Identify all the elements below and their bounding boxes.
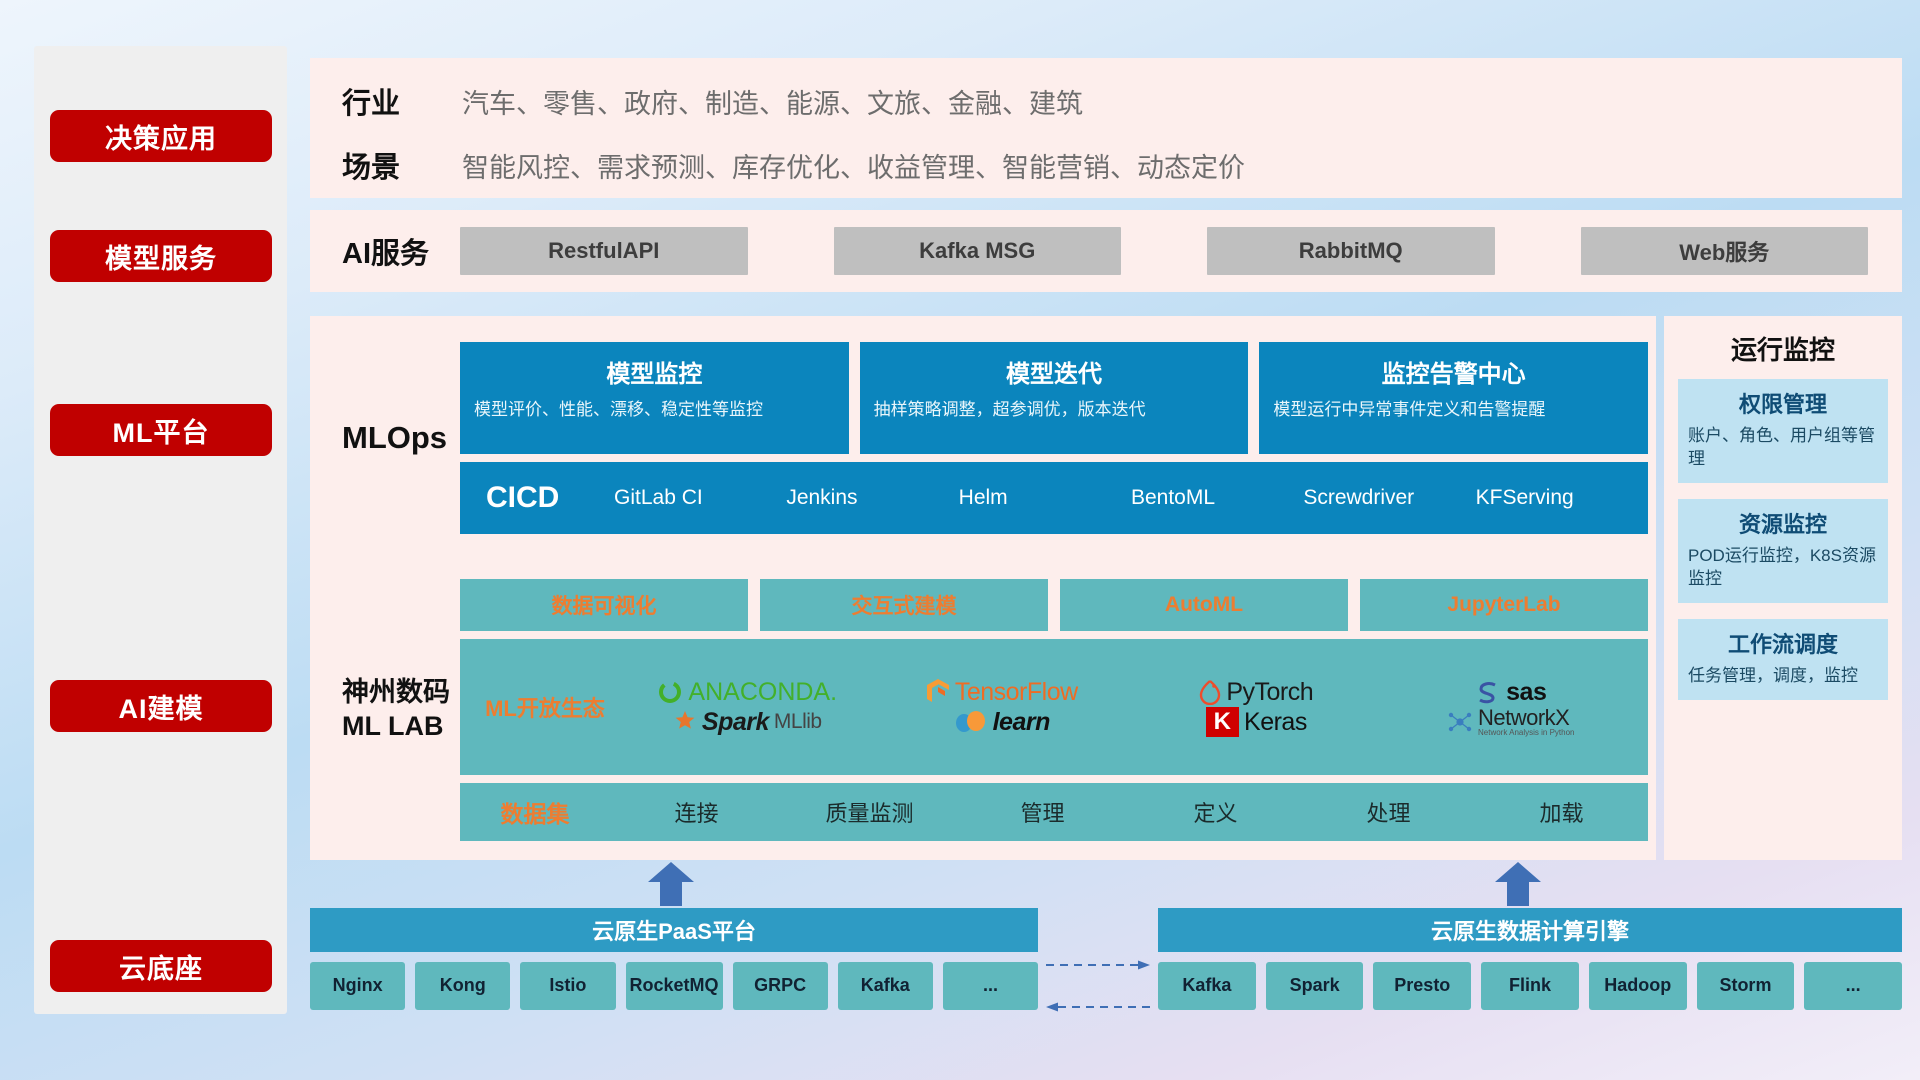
mlops-card-list: 模型监控 模型评价、性能、漂移、稳定性等监控 模型迭代 抽样策略调整，超参调优，… [460, 342, 1648, 454]
connector-arrow-left [1046, 1000, 1150, 1002]
monitor-card-permission[interactable]: 权限管理 账户、角色、用户组等管理 [1678, 379, 1888, 483]
pytorch-logo: PyTorch [1199, 678, 1313, 707]
paas-chip-nginx[interactable]: Nginx [310, 962, 405, 1010]
ai-service-item-web-service[interactable]: Web服务 [1581, 227, 1869, 275]
anaconda-logo: ANACONDA. [657, 678, 837, 707]
card-title: 监控告警中心 [1273, 354, 1634, 389]
dataset-item-load[interactable]: 加载 [1475, 796, 1648, 828]
chip-label: RabbitMQ [1299, 238, 1403, 264]
card-title: 工作流调度 [1688, 627, 1878, 659]
mlops-label: MLOps [342, 420, 460, 456]
paas-chip-rocketmq[interactable]: RocketMQ [626, 962, 723, 1010]
card-title: 模型迭代 [874, 354, 1235, 389]
card-title: 资源监控 [1688, 507, 1878, 539]
ai-service-band: AI服务 RestfulAPI Kafka MSG RabbitMQ Web服务 [310, 210, 1902, 292]
sidebar-item-label: ML平台 [113, 411, 210, 450]
architecture-diagram: 决策应用 模型服务 ML平台 AI建模 云底座 行业 汽车、零售、政府、制造、能… [0, 0, 1920, 1080]
scikit-learn-logo: learn [954, 708, 1050, 737]
dataset-label: 数据集 [460, 795, 610, 829]
paas-up-arrow-icon [648, 862, 694, 904]
data-compute-engine-bar[interactable]: 云原生数据计算引擎 [1158, 908, 1902, 952]
keras-logo-text: Keras [1244, 708, 1307, 737]
decision-applications-band: 行业 汽车、零售、政府、制造、能源、文旅、金融、建筑 场景 智能风控、需求预测、… [310, 58, 1902, 198]
paas-chip-istio[interactable]: Istio [520, 962, 615, 1010]
cicd-item-helm[interactable]: Helm [959, 487, 1131, 510]
card-title: 权限管理 [1688, 387, 1878, 419]
sidebar-item-ml-platform[interactable]: ML平台 [50, 404, 272, 456]
industry-row: 行业 汽车、零售、政府、制造、能源、文旅、金融、建筑 [342, 80, 1083, 122]
card-desc: POD运行监控，K8S资源监控 [1688, 545, 1878, 591]
networkx-mark-icon [1447, 709, 1473, 735]
paas-chip-more[interactable]: ... [943, 962, 1038, 1010]
networkx-logo-text: NetworkX [1478, 707, 1575, 729]
ai-service-label: AI服务 [342, 230, 460, 272]
paas-chip-kafka[interactable]: Kafka [838, 962, 933, 1010]
engine-chip-flink[interactable]: Flink [1481, 962, 1579, 1010]
sas-logo: sas [1475, 678, 1546, 707]
layer-rail [34, 46, 287, 1014]
ai-service-item-restfulapi[interactable]: RestfulAPI [460, 227, 748, 275]
dataset-item-list: 连接 质量监测 管理 定义 处理 加载 [610, 796, 1648, 828]
tool-interactive-modeling[interactable]: 交互式建模 [760, 579, 1048, 631]
chip-label: Web服务 [1679, 235, 1769, 267]
pytorch-mark-icon [1199, 679, 1221, 705]
cicd-item-jenkins[interactable]: Jenkins [786, 487, 958, 510]
ecosystem-label: ML开放生态 [470, 691, 620, 723]
mlops-band: MLOps 模型监控 模型评价、性能、漂移、稳定性等监控 模型迭代 抽样策略调整… [310, 316, 1656, 560]
dataset-item-process[interactable]: 处理 [1302, 796, 1475, 828]
sidebar-item-ai-modeling[interactable]: AI建模 [50, 680, 272, 732]
anaconda-logo-text: ANACONDA. [688, 678, 837, 707]
sidebar-item-label: 模型服务 [105, 237, 217, 276]
scikit-learn-logo-text: learn [993, 708, 1050, 737]
engine-chip-kafka[interactable]: Kafka [1158, 962, 1256, 1010]
ml-open-ecosystem: ML开放生态 ANACONDA. TensorFlow [460, 639, 1648, 775]
ml-lab-label-line1: 神州数码 [342, 676, 460, 710]
runtime-monitor-panel: 运行监控 权限管理 账户、角色、用户组等管理 资源监控 POD运行监控，K8S资… [1664, 316, 1902, 860]
cicd-row: CICD GitLab CI Jenkins Helm BentoML Scre… [460, 462, 1648, 534]
pytorch-logo-text: PyTorch [1226, 678, 1313, 707]
scenario-row: 场景 智能风控、需求预测、库存优化、收益管理、智能营销、动态定价 [342, 144, 1245, 186]
tool-data-visualization[interactable]: 数据可视化 [460, 579, 748, 631]
tool-automl[interactable]: AutoML [1060, 579, 1348, 631]
card-title: 模型监控 [474, 354, 835, 389]
monitor-card-resource[interactable]: 资源监控 POD运行监控，K8S资源监控 [1678, 499, 1888, 603]
engine-chip-more[interactable]: ... [1804, 962, 1902, 1010]
tensorflow-logo-text: TensorFlow [955, 678, 1078, 707]
chip-label: Kafka MSG [919, 238, 1035, 264]
chip-label: RestfulAPI [548, 238, 659, 264]
engine-chip-storm[interactable]: Storm [1697, 962, 1795, 1010]
mlops-card-model-monitoring[interactable]: 模型监控 模型评价、性能、漂移、稳定性等监控 [460, 342, 849, 454]
dataset-item-manage[interactable]: 管理 [956, 796, 1129, 828]
mlops-card-alert-center[interactable]: 监控告警中心 模型运行中异常事件定义和告警提醒 [1259, 342, 1648, 454]
industry-label: 行业 [342, 80, 462, 122]
sidebar-item-decision-apps[interactable]: 决策应用 [50, 110, 272, 162]
tool-jupyterlab[interactable]: JupyterLab [1360, 579, 1648, 631]
engine-chip-spark[interactable]: Spark [1266, 962, 1364, 1010]
runtime-monitor-title: 运行监控 [1664, 316, 1902, 379]
tensorflow-logo: TensorFlow [926, 678, 1078, 707]
card-desc: 模型运行中异常事件定义和告警提醒 [1273, 399, 1634, 422]
engine-chip-presto[interactable]: Presto [1373, 962, 1471, 1010]
engine-chip-list: Kafka Spark Presto Flink Hadoop Storm ..… [1158, 962, 1902, 1010]
ai-service-item-rabbitmq[interactable]: RabbitMQ [1207, 227, 1495, 275]
card-desc: 模型评价、性能、漂移、稳定性等监控 [474, 399, 835, 422]
sidebar-item-label: 云底座 [119, 947, 203, 986]
keras-logo: K Keras [1206, 707, 1307, 737]
dataset-item-quality-monitor[interactable]: 质量监测 [783, 796, 956, 828]
connector-arrow-right [1046, 958, 1150, 960]
mlops-content: 模型监控 模型评价、性能、漂移、稳定性等监控 模型迭代 抽样策略调整，超参调优，… [460, 342, 1648, 534]
card-desc: 任务管理，调度，监控 [1688, 665, 1878, 688]
tensorflow-mark-icon [926, 678, 950, 706]
mllib-logo-text: MLlib [774, 710, 822, 734]
cicd-item-screwdriver[interactable]: Screwdriver [1303, 487, 1475, 510]
sidebar-item-label: AI建模 [119, 687, 204, 726]
engine-chip-hadoop[interactable]: Hadoop [1589, 962, 1687, 1010]
anaconda-mark-icon [657, 679, 683, 705]
cicd-item-bentoml[interactable]: BentoML [1131, 487, 1303, 510]
cicd-item-list: GitLab CI Jenkins Helm BentoML Screwdriv… [614, 487, 1648, 510]
cicd-item-gitlab-ci[interactable]: GitLab CI [614, 487, 786, 510]
paas-chip-kong[interactable]: Kong [415, 962, 510, 1010]
ecosystem-logo-grid: ANACONDA. TensorFlow [620, 677, 1638, 737]
industry-value: 汽车、零售、政府、制造、能源、文旅、金融、建筑 [462, 82, 1083, 121]
paas-chip-grpc[interactable]: GRPC [733, 962, 828, 1010]
dataset-row: 数据集 连接 质量监测 管理 定义 处理 加载 [460, 783, 1648, 841]
paas-chip-list: Nginx Kong Istio RocketMQ GRPC Kafka ... [310, 962, 1038, 1010]
ml-lab-tool-list: 数据可视化 交互式建模 AutoML JupyterLab [460, 579, 1648, 631]
sidebar-item-model-service[interactable]: 模型服务 [50, 230, 272, 282]
ml-lab-label-line2: ML LAB [342, 710, 460, 744]
sidebar-item-label: 决策应用 [105, 117, 217, 156]
ai-service-items: RestfulAPI Kafka MSG RabbitMQ Web服务 [460, 227, 1902, 275]
cicd-title: CICD [486, 481, 614, 515]
scenario-value: 智能风控、需求预测、库存优化、收益管理、智能营销、动态定价 [462, 146, 1245, 185]
ai-service-item-kafka-msg[interactable]: Kafka MSG [834, 227, 1122, 275]
ml-lab-band: 神州数码 ML LAB 数据可视化 交互式建模 AutoML JupyterLa… [310, 560, 1656, 860]
monitor-card-workflow[interactable]: 工作流调度 任务管理，调度，监控 [1678, 619, 1888, 700]
spark-star-icon [673, 710, 697, 734]
sas-mark-icon [1475, 679, 1501, 705]
networkx-logo-tagline: Network Analysis in Python [1478, 729, 1575, 737]
dataset-item-define[interactable]: 定义 [1129, 796, 1302, 828]
engine-up-arrow-icon [1495, 862, 1541, 904]
sas-logo-text: sas [1506, 678, 1546, 707]
spark-logo-text: Spark [702, 708, 769, 737]
ml-lab-content: 数据可视化 交互式建模 AutoML JupyterLab ML开放生态 ANA… [460, 579, 1648, 841]
card-desc: 抽样策略调整，超参调优，版本迭代 [874, 399, 1235, 422]
dataset-item-connect[interactable]: 连接 [610, 796, 783, 828]
mlops-card-model-iteration[interactable]: 模型迭代 抽样策略调整，超参调优，版本迭代 [860, 342, 1249, 454]
ml-lab-label: 神州数码 ML LAB [342, 676, 460, 744]
keras-mark-icon: K [1206, 707, 1239, 737]
cicd-item-kfserving[interactable]: KFServing [1476, 487, 1648, 510]
paas-platform-bar[interactable]: 云原生PaaS平台 [310, 908, 1038, 952]
scenario-label: 场景 [342, 144, 462, 186]
sidebar-item-cloud-base[interactable]: 云底座 [50, 940, 272, 992]
scikit-learn-mark-icon [954, 709, 988, 735]
card-desc: 账户、角色、用户组等管理 [1688, 425, 1878, 471]
networkx-logo: NetworkX Network Analysis in Python [1447, 707, 1575, 737]
spark-mllib-logo: Spark MLlib [673, 708, 822, 737]
